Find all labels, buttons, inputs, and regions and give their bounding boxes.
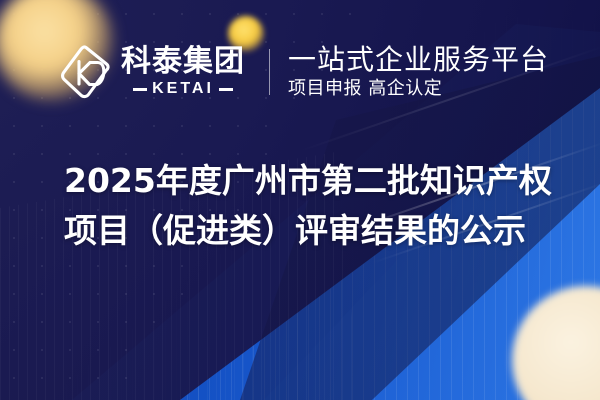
brand-name-en-row: KETAI <box>133 81 233 97</box>
promo-banner: 科泰集团 KETAI 一站式企业服务平台 项目申报 高企认定 2025年度广州市… <box>0 0 600 400</box>
banner-header: 科泰集团 KETAI 一站式企业服务平台 项目申报 高企认定 <box>60 44 549 100</box>
wordmark-rule-right <box>219 88 233 91</box>
header-divider <box>269 49 270 95</box>
brand-wordmark: 科泰集团 KETAI <box>121 47 245 97</box>
brand-name-cn: 科泰集团 <box>121 47 245 77</box>
slogan-sub-text: 项目申报 高企认定 <box>288 80 549 99</box>
ketai-diamond-monogram-icon <box>60 44 112 100</box>
slogan-main-text: 一站式企业服务平台 <box>288 45 549 74</box>
brand-logo[interactable]: 科泰集团 KETAI <box>60 44 245 100</box>
wordmark-rule-left <box>133 88 147 91</box>
brand-name-en: KETAI <box>152 81 214 97</box>
slogan-block: 一站式企业服务平台 项目申报 高企认定 <box>288 45 549 99</box>
page-title: 2025年度广州市第二批知识产权项目（促进类）评审结果的公示 <box>64 156 564 256</box>
